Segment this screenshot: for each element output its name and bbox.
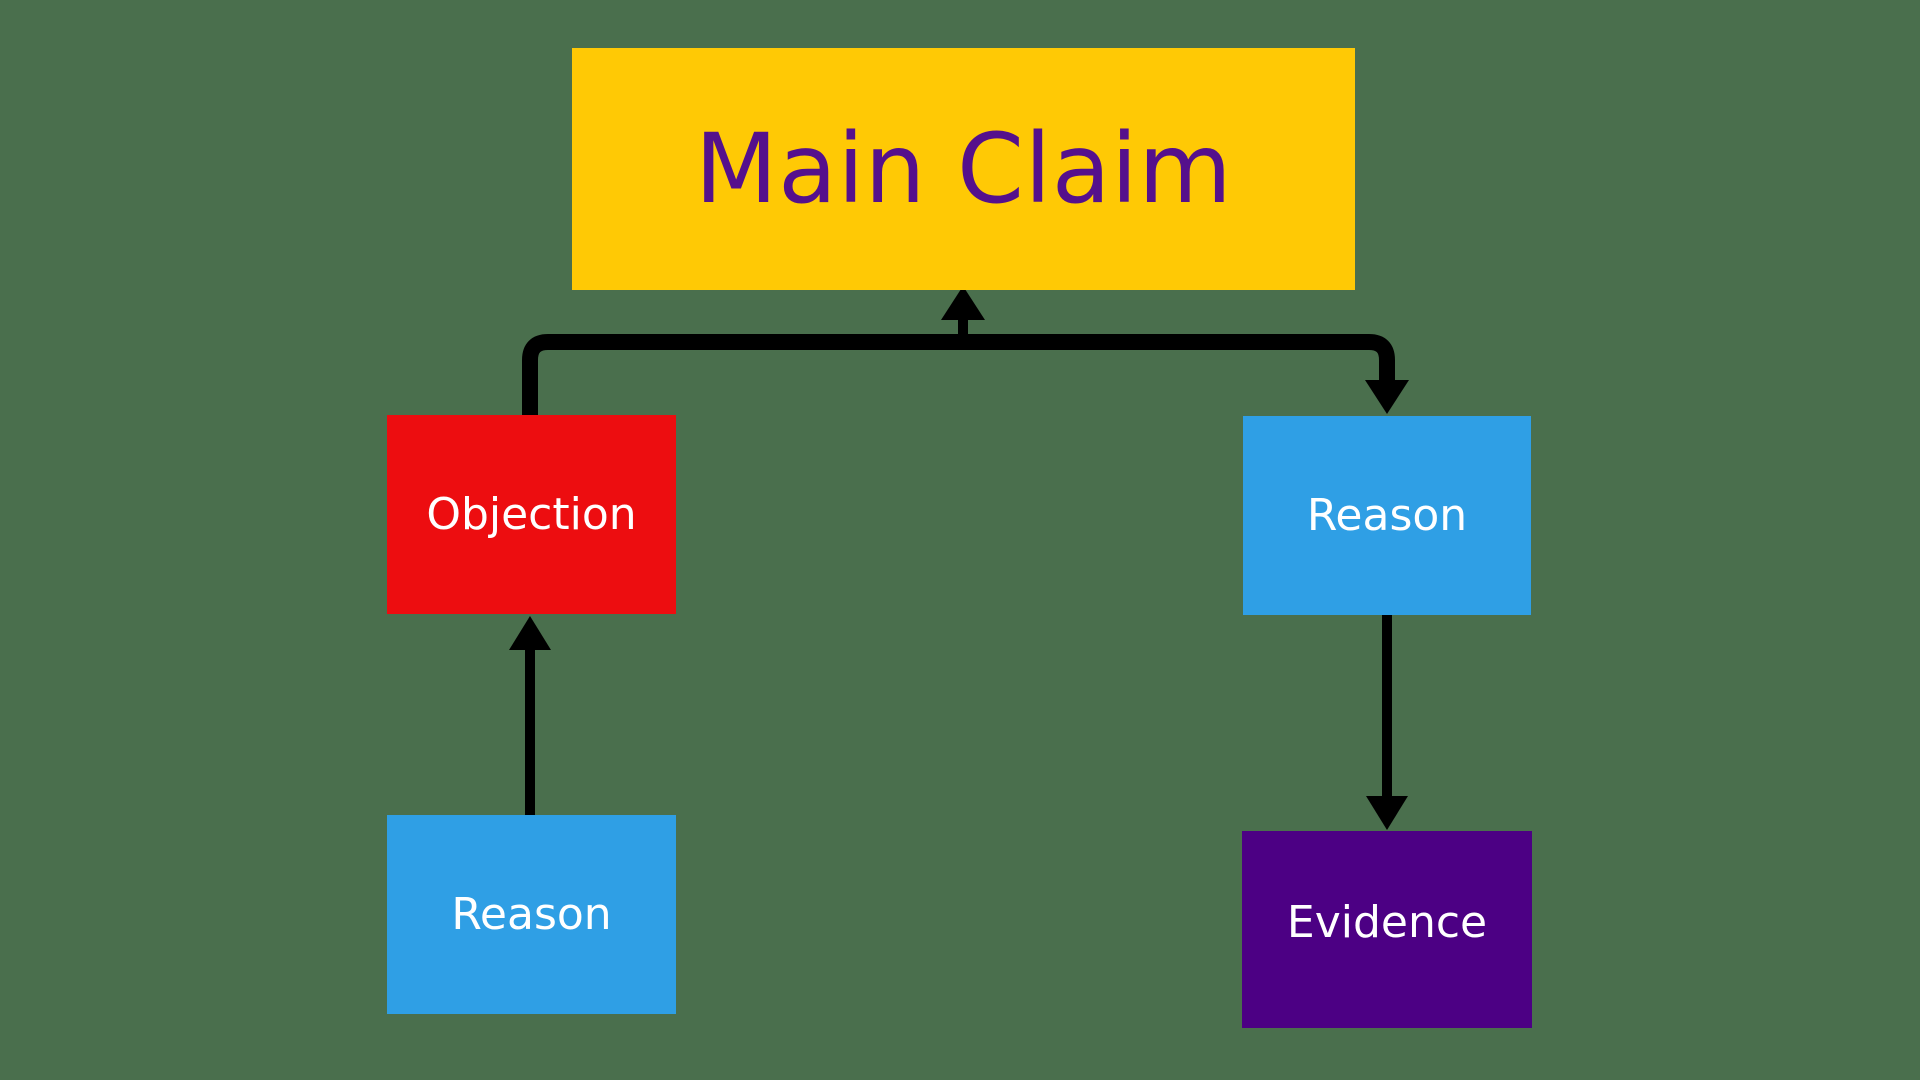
node-evidence-label: Evidence: [1287, 900, 1487, 946]
node-main-claim[interactable]: Main Claim: [572, 48, 1355, 290]
arrowhead-down-evidence-icon: [1366, 796, 1408, 830]
node-reason-left[interactable]: Reason: [387, 815, 676, 1014]
arrowhead-up-objection-icon: [509, 616, 551, 650]
diagram-canvas: Main Claim Objection Reason Reason Evide…: [0, 0, 1920, 1080]
node-reason-right-label: Reason: [1307, 493, 1467, 539]
node-main-claim-label: Main Claim: [695, 119, 1232, 220]
edge-objection-to-main-claim-line: [530, 342, 963, 416]
node-reason-right[interactable]: Reason: [1243, 416, 1531, 615]
node-reason-left-label: Reason: [451, 892, 611, 938]
edge-main-claim-to-reason-right-line: [963, 342, 1387, 392]
node-objection[interactable]: Objection: [387, 415, 676, 614]
node-objection-label: Objection: [426, 492, 636, 538]
node-evidence[interactable]: Evidence: [1242, 831, 1532, 1028]
arrowhead-up-main-claim-icon: [941, 286, 985, 320]
arrowhead-down-reason-right-icon: [1365, 380, 1409, 414]
